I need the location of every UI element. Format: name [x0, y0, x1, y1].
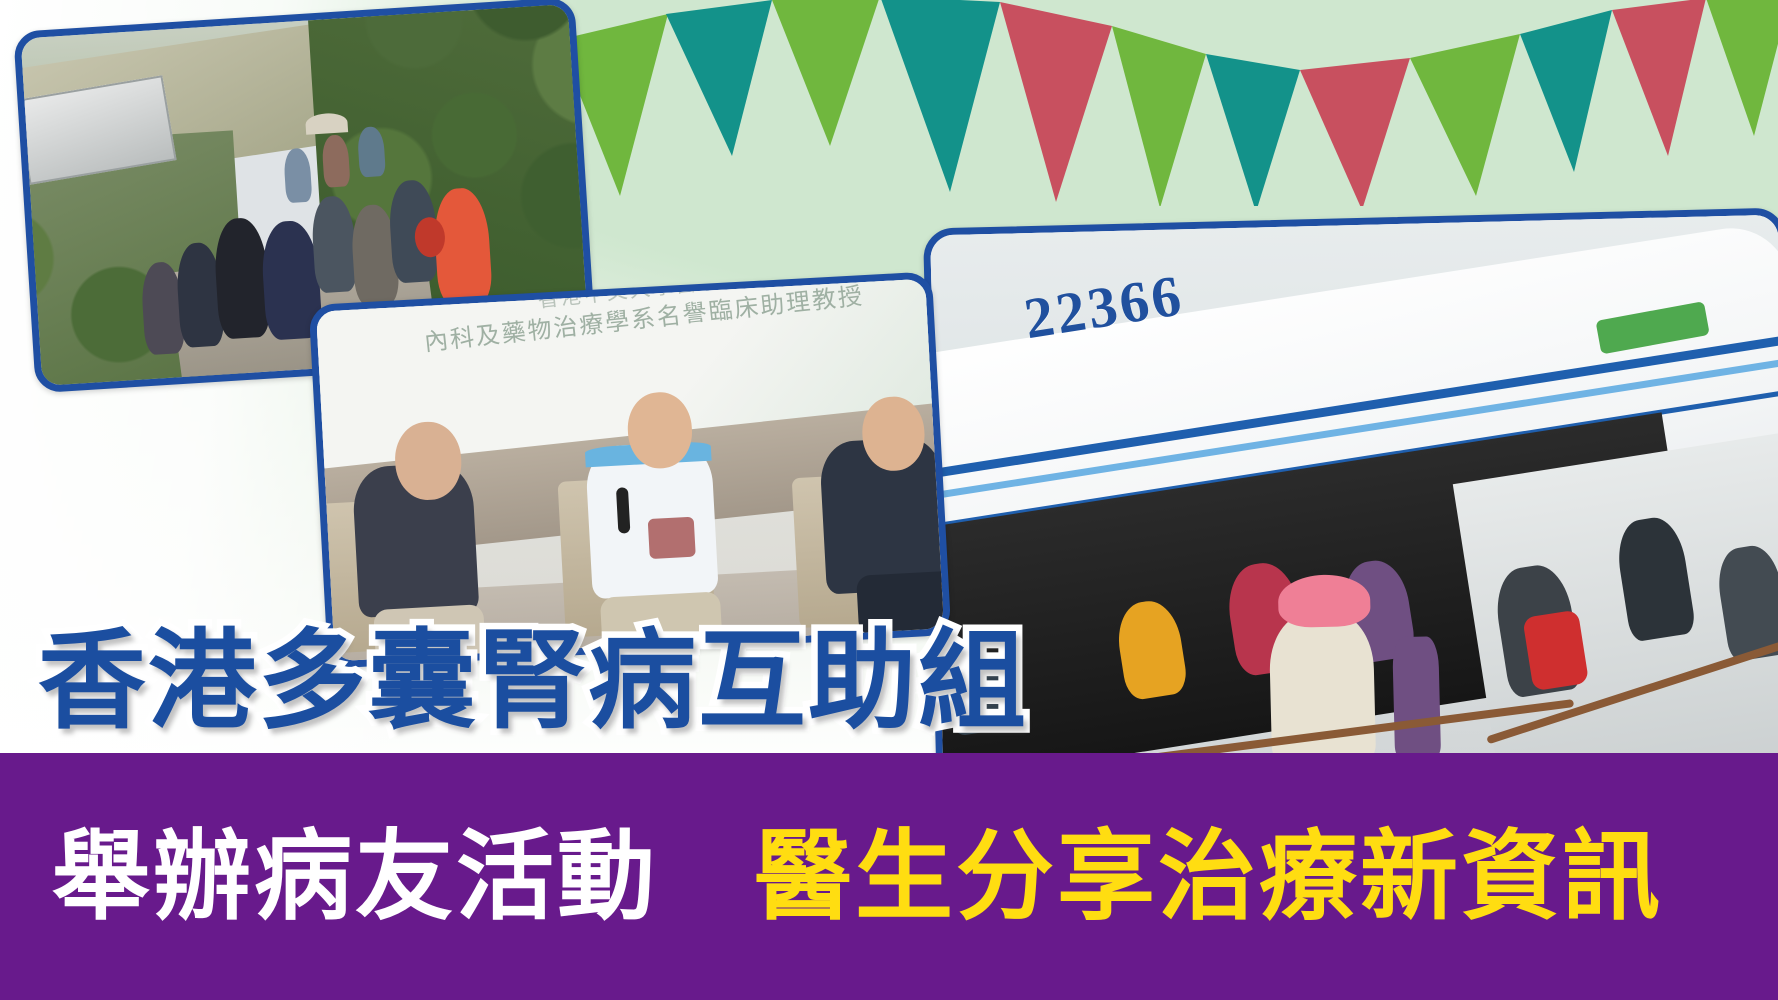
boat-scene: 22366: [930, 215, 1778, 806]
photo-ferry-boarding: 22366: [923, 208, 1778, 813]
poster-root: 22366: [0, 0, 1778, 1000]
passenger-boarding: [1612, 514, 1696, 643]
purple-banner: 舉辦病友活動 醫生分享治療新資訊: [0, 753, 1778, 1000]
hiker-far-1: [283, 148, 312, 204]
subtitle-yellow: 醫生分享治療新資訊: [754, 828, 1663, 926]
hiker-3: [310, 195, 358, 293]
bunting-decoration: [500, 0, 1778, 206]
talk-scene: 香港中文大學醫學院 內科及藥物治療學系名譽臨床助理教授: [316, 279, 944, 661]
passenger-backpack-purple: [1393, 636, 1442, 757]
photo-doctor-talk-panel: 香港中文大學醫學院 內科及藥物治療學系名譽臨床助理教授: [309, 271, 952, 668]
hiker-far-3: [357, 126, 386, 178]
page-title: 香港多囊腎病互助組: [38, 628, 1028, 736]
bunting-pennant-group: [500, 0, 1778, 206]
red-backpack: [1522, 609, 1589, 691]
hiker-far-2: [322, 134, 351, 188]
passenger-yellow-jacket: [1113, 597, 1189, 701]
tshirt-logo: [647, 517, 695, 559]
subtitle-white: 舉辦病友活動: [52, 828, 658, 926]
boat-deck: [1453, 423, 1778, 806]
bunting-svg: [500, 0, 1778, 206]
